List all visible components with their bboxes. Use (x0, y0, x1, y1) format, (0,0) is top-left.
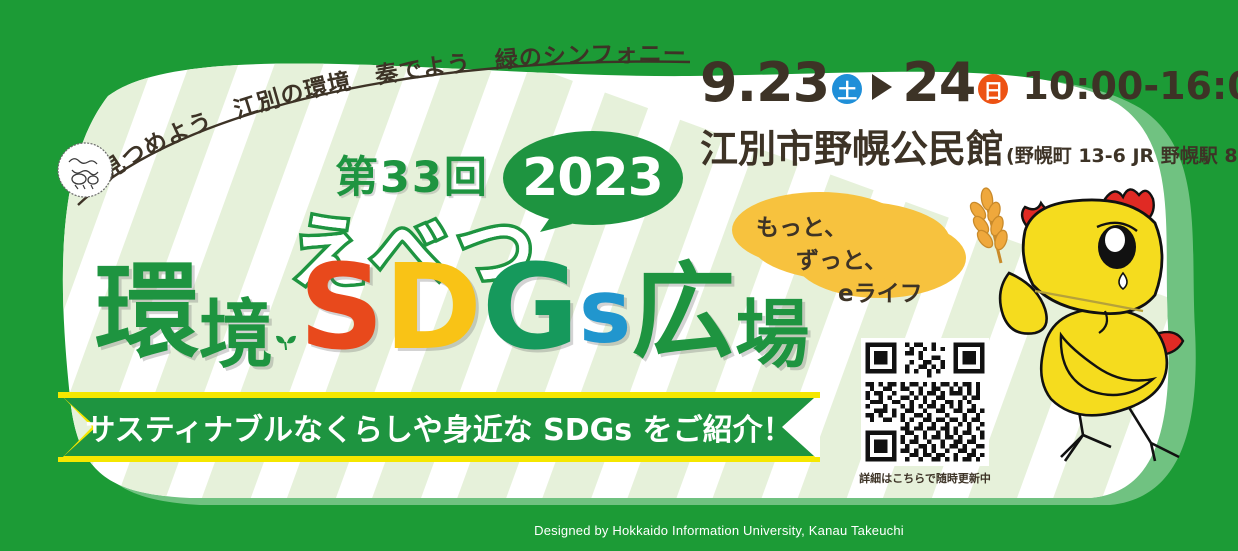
event-name-kana-stroke: えべつ (290, 208, 543, 298)
title-part-s: s (579, 268, 631, 356)
slogan-bubble: もっと、 ずっと、 eライフ (730, 186, 970, 306)
designer-credit-text: Designed by Hokkaido Information Univers… (534, 523, 904, 538)
date-start: 9.23 (700, 56, 829, 110)
arc-headline-text: 見つめよう 江別の環境 奏でよう 緑のシンフォニー (97, 42, 687, 186)
date-end: 24 (902, 56, 975, 110)
slogan-line-2: ずっと、 (796, 241, 887, 275)
title-part-S: S (299, 248, 384, 366)
title-part-kanji-2: 境 (199, 298, 273, 372)
title-part-kanji-1: 環 (95, 260, 199, 364)
arrow-right-icon (872, 74, 892, 100)
event-venue-line: 江別市野幌公民館 (野幌町 13-6 JR 野幌駅 8 分) (700, 118, 1238, 173)
day-badge-saturday: 土 (832, 74, 862, 104)
slogan-line-3: eライフ (838, 274, 923, 308)
designer-credit: Designed by Hokkaido Information Univers… (0, 523, 1238, 538)
edition-label: 第33回 (335, 143, 489, 205)
chick-body (1041, 309, 1167, 415)
chick-mascot-icon (965, 185, 1215, 480)
title-part-D: D (384, 248, 482, 366)
chick-eye-highlight (1105, 228, 1125, 252)
event-date-line: 9.23 土 24 日 10:00-16:00 (700, 56, 1238, 110)
leaf-icon (273, 328, 299, 358)
event-time: 10:00-16:00 (1022, 64, 1238, 108)
poster-banner: 見つめよう 江別の環境 奏でよう 緑のシンフォニー 第33回 えべつ えべつ 2… (0, 0, 1238, 551)
venue-name: 江別市野幌公民館 (700, 118, 1004, 173)
svg-text:見つめよう 江別の環境 奏でよう 緑のシンフォニー: 見つめよう 江別の環境 奏でよう 緑のシンフォニー (97, 42, 687, 186)
day-badge-sunday: 日 (978, 74, 1008, 104)
chick-head (1023, 200, 1162, 314)
year-bubble-text: 2023 (500, 128, 685, 228)
event-name-kana-fill: えべつ (290, 190, 543, 302)
wheat-icon (968, 187, 1010, 263)
title-part-kanji-3: 広 (631, 260, 735, 364)
circular-sketch-stamp-icon (55, 140, 115, 200)
title-part-kanji-4: 場 (735, 298, 809, 372)
slogan-line-1: もっと、 (756, 208, 847, 242)
main-title: 環境SDGs広場 (95, 248, 809, 366)
title-block: 第33回 えべつ えべつ 2023 環境SDGs広場 (0, 0, 760, 400)
event-datetime-block: 9.23 土 24 日 10:00-16:00 江別市野幌公民館 (野幌町 13… (700, 56, 1200, 166)
event-name-kana: えべつ えべつ (290, 190, 543, 302)
tagline-ribbon-text: サスティナブルなくらしや身近な SDGs をご紹介！ (58, 392, 820, 462)
tagline-ribbon: サスティナブルなくらしや身近な SDGs をご紹介！ (58, 392, 820, 462)
venue-address: (野幌町 13-6 JR 野幌駅 8 分) (1006, 141, 1238, 168)
title-part-G: G (482, 248, 579, 366)
year-bubble: 2023 (500, 128, 700, 248)
